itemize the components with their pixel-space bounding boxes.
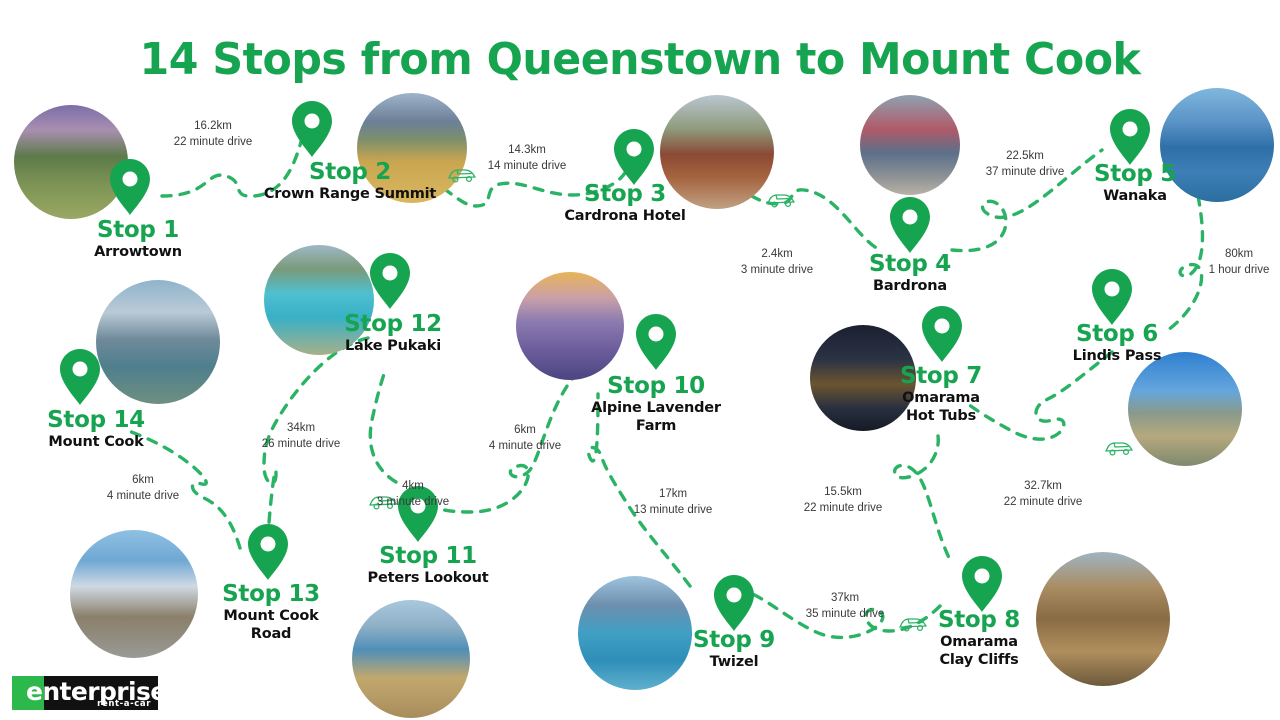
stop-name: Cardrona Hotel <box>520 207 730 225</box>
stop-label-6[interactable]: Stop 6 Lindis Pass <box>1022 322 1212 365</box>
stop-name: Twizel <box>648 653 820 671</box>
map-pin-stop-14[interactable] <box>58 348 102 406</box>
stop-number: Stop 8 <box>890 608 1068 633</box>
map-pin-stop-3[interactable] <box>612 128 656 186</box>
stop-number: Stop 10 <box>568 374 744 399</box>
distance-km: 37km <box>780 590 910 606</box>
stop-number: Stop 3 <box>520 182 730 207</box>
map-pin-stop-1[interactable] <box>108 158 152 216</box>
leg-distance-6: 32.7km 22 minute drive <box>978 478 1108 510</box>
stop-name: Omarama <box>890 633 1068 651</box>
leg-distance-8: 37km 35 minute drive <box>780 590 910 622</box>
stop-label-14[interactable]: Stop 14 Mount Cook <box>18 408 174 451</box>
stop-number: Stop 9 <box>648 628 820 653</box>
map-pin-stop-4[interactable] <box>888 196 932 254</box>
distance-km: 16.2km <box>148 118 278 134</box>
distance-duration: 26 minute drive <box>236 436 366 452</box>
stop-name: Bardrona <box>810 277 1010 295</box>
distance-duration: 37 minute drive <box>960 164 1090 180</box>
leg-distance-4: 22.5km 37 minute drive <box>960 148 1090 180</box>
distance-km: 22.5km <box>960 148 1090 164</box>
distance-duration: 1 hour drive <box>1198 262 1280 278</box>
distance-duration: 4 minute drive <box>78 488 208 504</box>
distance-duration: 3 minute drive <box>348 494 478 510</box>
stop-name: Peters Lookout <box>332 569 524 587</box>
stop-number: Stop 13 <box>192 582 350 607</box>
stop-name: Lake Pukaki <box>306 337 480 355</box>
stop-label-8[interactable]: Stop 8 Omarama Clay Cliffs <box>890 608 1068 669</box>
stop-label-10[interactable]: Stop 10 Alpine Lavender Farm <box>568 374 744 435</box>
stop-name: Wanaka <box>1040 187 1230 205</box>
stop-number: Stop 11 <box>332 544 524 569</box>
stop-number: Stop 7 <box>852 364 1030 389</box>
leg-distance-12: 34km 26 minute drive <box>236 420 366 452</box>
stop-name-line2: Farm <box>568 417 744 435</box>
leg-distance-10: 6km 4 minute drive <box>460 422 590 454</box>
distance-km: 32.7km <box>978 478 1108 494</box>
photo-mount-cook <box>96 280 220 404</box>
leg-distance-1: 16.2km 22 minute drive <box>148 118 278 150</box>
distance-km: 15.5km <box>778 484 908 500</box>
distance-duration: 35 minute drive <box>780 606 910 622</box>
stop-name: Omarama <box>852 389 1030 407</box>
distance-km: 6km <box>78 472 208 488</box>
distance-duration: 3 minute drive <box>712 262 842 278</box>
stop-label-7[interactable]: Stop 7 Omarama Hot Tubs <box>852 364 1030 425</box>
stop-number: Stop 14 <box>18 408 174 433</box>
leg-distance-11: 4km 3 minute drive <box>348 478 478 510</box>
stop-label-11[interactable]: Stop 11 Peters Lookout <box>332 544 524 587</box>
stop-label-13[interactable]: Stop 13 Mount Cook Road <box>192 582 350 643</box>
distance-duration: 4 minute drive <box>460 438 590 454</box>
stop-name: Mount Cook <box>192 607 350 625</box>
distance-duration: 22 minute drive <box>778 500 908 516</box>
stop-name-line2: Clay Cliffs <box>890 651 1068 669</box>
leg-distance-7: 15.5km 22 minute drive <box>778 484 908 516</box>
stop-label-12[interactable]: Stop 12 Lake Pukaki <box>306 312 480 355</box>
stop-name: Mount Cook <box>18 433 174 451</box>
stop-label-3[interactable]: Stop 3 Cardrona Hotel <box>520 182 730 225</box>
route-leg-11 <box>370 368 396 482</box>
distance-km: 6km <box>460 422 590 438</box>
distance-km: 4km <box>348 478 478 494</box>
stop-number: Stop 6 <box>1022 322 1212 347</box>
distance-km: 34km <box>236 420 366 436</box>
map-pin-stop-9[interactable] <box>712 574 756 632</box>
stop-label-9[interactable]: Stop 9 Twizel <box>648 628 820 671</box>
stop-name: Arrowtown <box>78 243 198 261</box>
photo-peters-lookout <box>352 600 470 718</box>
enterprise-logo: enterprise rent-a-car <box>12 676 158 710</box>
stop-name: Alpine Lavender <box>568 399 744 417</box>
leg-distance-5: 80km 1 hour drive <box>1198 246 1280 278</box>
leg-distance-3: 2.4km 3 minute drive <box>712 246 842 278</box>
stop-name-line2: Road <box>192 625 350 643</box>
map-pin-stop-7[interactable] <box>920 305 964 363</box>
leg-distance-9: 17km 13 minute drive <box>608 486 738 518</box>
map-pin-stop-10[interactable] <box>634 313 678 371</box>
distance-km: 17km <box>608 486 738 502</box>
stop-number: Stop 1 <box>78 218 198 243</box>
page-title: 14 Stops from Queenstown to Mount Cook <box>19 34 1261 85</box>
car-icon-leg-3 <box>766 190 796 210</box>
photo-alpine-lavender-farm <box>516 272 624 380</box>
distance-km: 14.3km <box>462 142 592 158</box>
distance-km: 80km <box>1198 246 1280 262</box>
logo-tagline: rent-a-car <box>97 699 151 709</box>
distance-duration: 13 minute drive <box>608 502 738 518</box>
photo-bardrona <box>860 95 960 195</box>
map-pin-stop-12[interactable] <box>368 252 412 310</box>
map-pin-stop-5[interactable] <box>1108 108 1152 166</box>
map-pin-stop-6[interactable] <box>1090 268 1134 326</box>
stop-label-1[interactable]: Stop 1 Arrowtown <box>78 218 198 261</box>
distance-duration: 22 minute drive <box>148 134 278 150</box>
distance-km: 2.4km <box>712 246 842 262</box>
stop-name-line2: Hot Tubs <box>852 407 1030 425</box>
car-icon-leg-6 <box>1104 438 1134 458</box>
map-pin-stop-2[interactable] <box>290 100 334 158</box>
distance-duration: 14 minute drive <box>462 158 592 174</box>
map-pin-stop-13[interactable] <box>246 523 290 581</box>
stop-name: Crown Range Summit <box>190 185 510 203</box>
photo-mount-cook-road <box>70 530 198 658</box>
distance-duration: 22 minute drive <box>978 494 1108 510</box>
photo-lindis-pass <box>1128 352 1242 466</box>
stop-name: Lindis Pass <box>1022 347 1212 365</box>
stop-number: Stop 12 <box>306 312 480 337</box>
map-pin-stop-8[interactable] <box>960 555 1004 613</box>
leg-distance-13: 6km 4 minute drive <box>78 472 208 504</box>
leg-distance-2: 14.3km 14 minute drive <box>462 142 592 174</box>
